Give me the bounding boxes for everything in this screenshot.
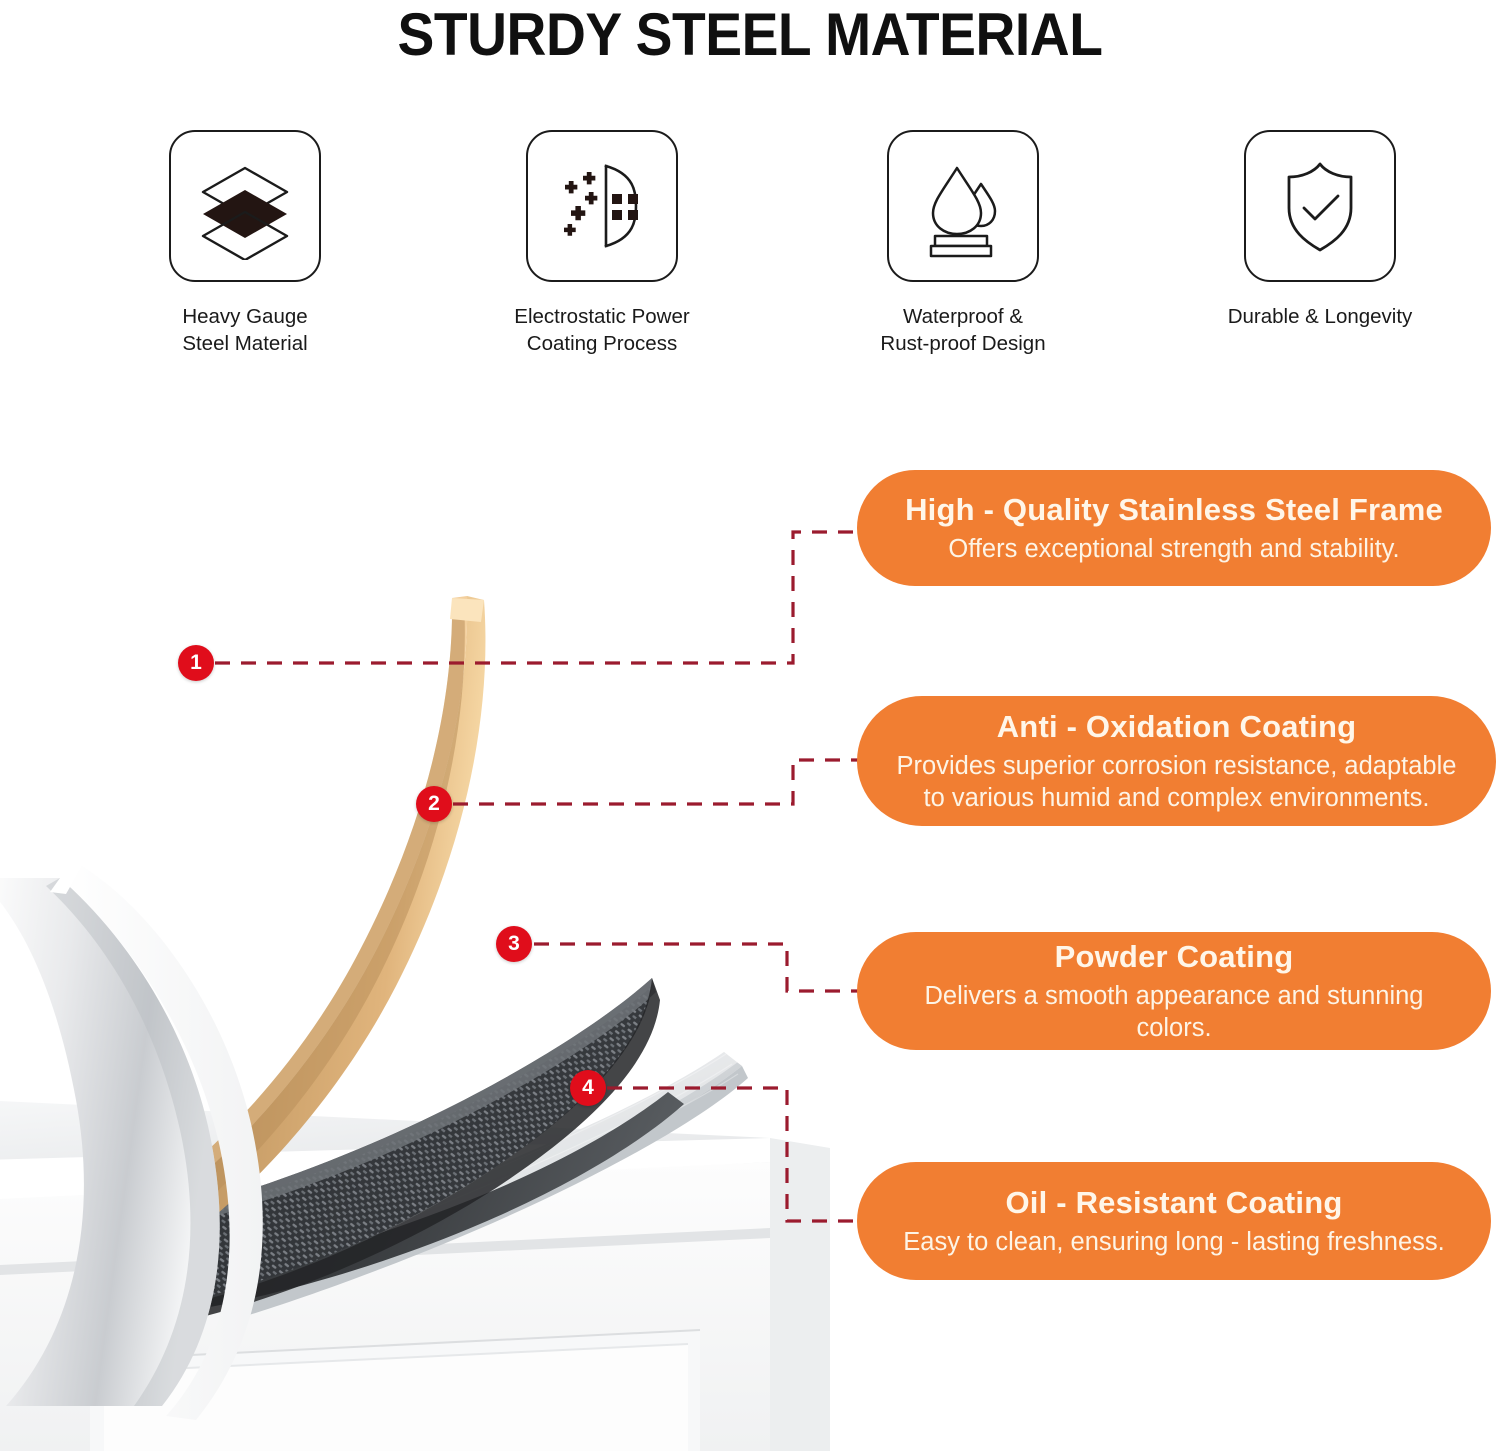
callout-description: Offers exceptional strength and stabilit… <box>948 533 1399 565</box>
marker-2[interactable]: 2 <box>416 786 452 822</box>
feature-item-durable: Durable & Longevity <box>1170 130 1470 330</box>
feature-label: Heavy Gauge Steel Material <box>182 303 307 357</box>
callout-powder-coating[interactable]: Powder Coating Delivers a smooth appeara… <box>857 932 1491 1050</box>
water-droplet-icon <box>887 130 1039 282</box>
marker-3[interactable]: 3 <box>496 926 532 962</box>
callout-description: Delivers a smooth appearance and stunnin… <box>887 980 1461 1044</box>
marker-1[interactable]: 1 <box>178 645 214 681</box>
callout-title: Oil - Resistant Coating <box>1005 1184 1342 1222</box>
feature-label: Electrostatic Power Coating Process <box>514 303 689 357</box>
feature-strip: Heavy Gauge Steel Material <box>0 130 1500 370</box>
feature-label: Waterproof & Rust-proof Design <box>880 303 1045 357</box>
electrostatic-spray-icon <box>526 130 678 282</box>
product-illustration <box>0 400 830 1451</box>
page-title: STURDY STEEL MATERIAL <box>60 2 1440 68</box>
marker-4[interactable]: 4 <box>570 1070 606 1106</box>
callout-oil-resistant[interactable]: Oil - Resistant Coating Easy to clean, e… <box>857 1162 1491 1280</box>
callout-description: Provides superior corrosion resistance, … <box>887 750 1466 814</box>
callout-title: Powder Coating <box>1055 938 1294 976</box>
callout-title: High - Quality Stainless Steel Frame <box>905 491 1443 529</box>
feature-item-electrostatic: Electrostatic Power Coating Process <box>452 130 752 357</box>
infographic-page: STURDY STEEL MATERIAL Heavy Gauge Steel … <box>0 0 1500 1451</box>
callout-anti-oxidation[interactable]: Anti - Oxidation Coating Provides superi… <box>857 696 1496 826</box>
feature-item-heavy-gauge: Heavy Gauge Steel Material <box>95 130 395 357</box>
shield-check-icon <box>1244 130 1396 282</box>
layered-sheets-icon <box>169 130 321 282</box>
feature-label: Durable & Longevity <box>1228 303 1413 330</box>
callout-description: Easy to clean, ensuring long - lasting f… <box>903 1226 1444 1258</box>
callout-high-quality-frame[interactable]: High - Quality Stainless Steel Frame Off… <box>857 470 1491 586</box>
callout-title: Anti - Oxidation Coating <box>997 708 1357 746</box>
feature-item-waterproof: Waterproof & Rust-proof Design <box>813 130 1113 357</box>
